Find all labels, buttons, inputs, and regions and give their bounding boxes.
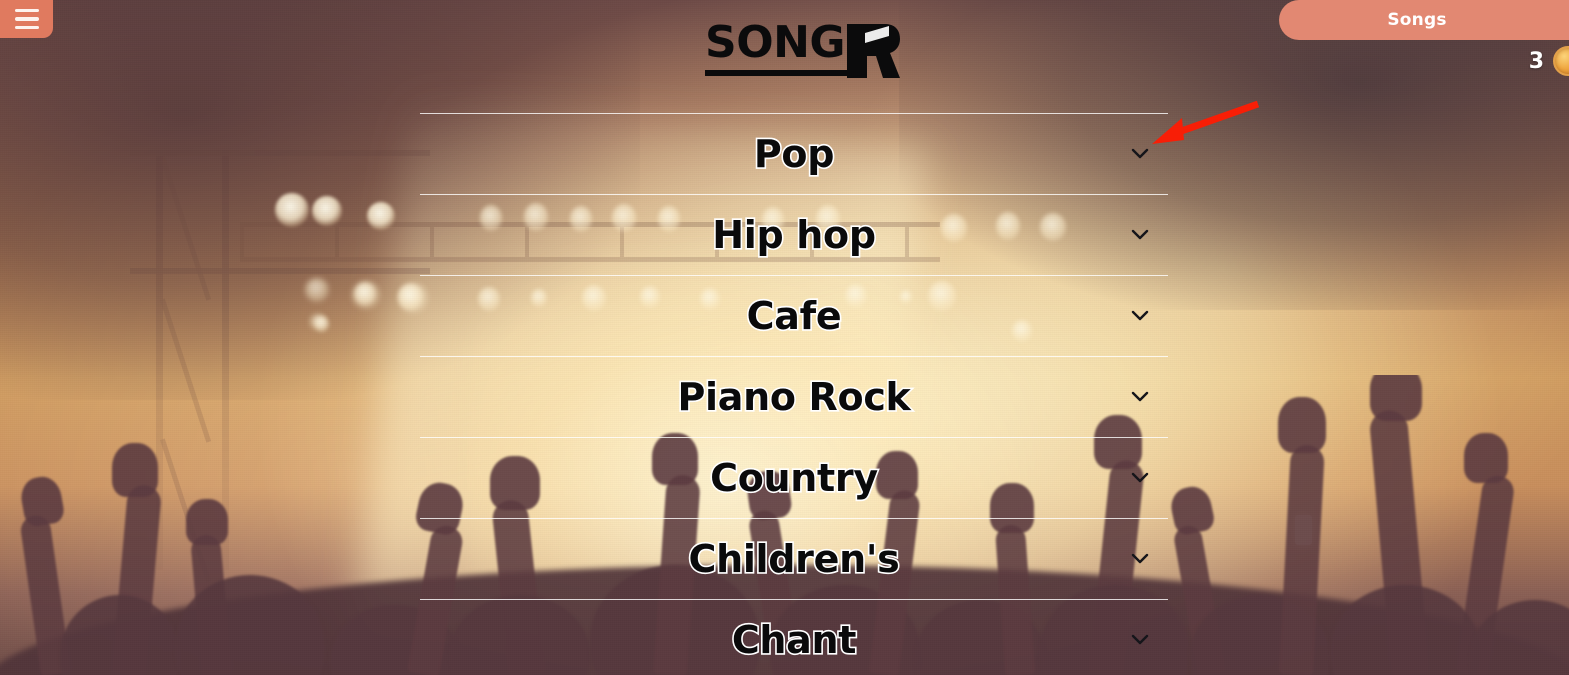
logo-wordmark: SONG [705, 22, 847, 76]
ui-layer: SONG Songs 3 Pop [0, 0, 1569, 675]
chevron-down-icon[interactable] [1130, 630, 1150, 650]
genre-row-cafe[interactable]: Cafe [420, 275, 1168, 356]
genre-label: Piano Rock [677, 375, 910, 419]
genre-row-piano-rock[interactable]: Piano Rock [420, 356, 1168, 437]
hamburger-menu-button[interactable] [0, 0, 53, 38]
app-logo[interactable]: SONG [705, 22, 901, 80]
chevron-down-icon[interactable] [1130, 387, 1150, 407]
genre-row-childrens[interactable]: Children's [420, 518, 1168, 599]
genre-label: Children's [688, 537, 899, 581]
hamburger-menu-icon [15, 17, 39, 21]
hamburger-menu-icon [15, 26, 39, 30]
chevron-down-icon[interactable] [1130, 306, 1150, 326]
genre-label: Country [710, 456, 878, 500]
app-root: SONG Songs 3 Pop [0, 0, 1569, 675]
genre-label: Hip hop [712, 213, 876, 257]
genre-row-pop[interactable]: Pop [420, 113, 1168, 194]
chevron-down-icon[interactable] [1130, 225, 1150, 245]
chevron-down-icon[interactable] [1130, 468, 1150, 488]
chevron-down-icon[interactable] [1130, 549, 1150, 569]
coin-icon [1553, 46, 1569, 76]
genre-row-chant[interactable]: Chant [420, 599, 1168, 675]
coin-counter[interactable]: 3 [1529, 46, 1569, 76]
genre-label: Cafe [747, 294, 842, 338]
genre-list: Pop Hip hop Cafe Piano Rock [420, 113, 1168, 675]
coin-count-value: 3 [1529, 49, 1544, 74]
genre-label: Chant [732, 618, 856, 662]
genre-row-country[interactable]: Country [420, 437, 1168, 518]
r-block-logo-mark [845, 22, 901, 80]
genre-row-hip-hop[interactable]: Hip hop [420, 194, 1168, 275]
hamburger-menu-icon [15, 9, 39, 13]
chevron-down-icon[interactable] [1130, 144, 1150, 164]
tab-songs[interactable]: Songs [1279, 0, 1569, 40]
genre-label: Pop [754, 132, 834, 176]
